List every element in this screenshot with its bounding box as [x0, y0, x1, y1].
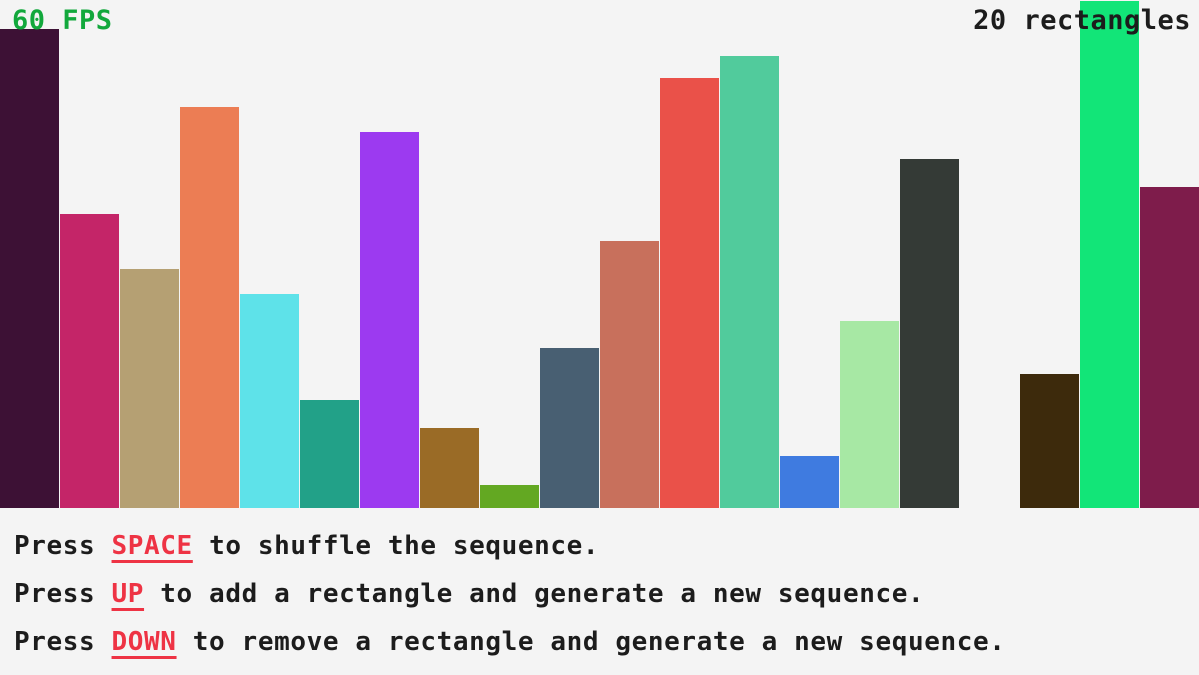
instruction-line-1: Press SPACE to shuffle the sequence.: [14, 522, 1199, 570]
instruction-line-2: Press UP to add a rectangle and generate…: [14, 570, 1199, 618]
bar-12-red: [660, 78, 719, 508]
bar-8-brown: [420, 428, 479, 508]
bar-4-orange: [180, 107, 239, 508]
instruction-suffix: to add a rectangle and generate a new se…: [144, 579, 924, 609]
bar-16-charcoal: [900, 159, 959, 508]
bar-5-cyan: [240, 294, 299, 508]
instruction-suffix: to shuffle the sequence.: [193, 531, 599, 561]
instruction-prefix: Press: [14, 627, 112, 657]
bar-15-light-green: [840, 321, 899, 508]
bar-2-magenta: [60, 214, 119, 508]
key-space[interactable]: SPACE: [112, 531, 193, 561]
instructions-panel: Press SPACE to shuffle the sequence.Pres…: [0, 508, 1199, 675]
rectangle-count-label: 20 rectangles: [973, 7, 1191, 34]
instruction-line-3: Press DOWN to remove a rectangle and gen…: [14, 618, 1199, 666]
bar-9-olive-green: [480, 485, 539, 508]
bar-18-bright-green: [1080, 1, 1139, 508]
bar-1-dark-plum: [0, 29, 59, 508]
key-down[interactable]: DOWN: [112, 627, 177, 657]
instruction-prefix: Press: [14, 579, 112, 609]
fps-counter: 60 FPS: [12, 7, 113, 34]
bar-14-blue: [780, 456, 839, 508]
rectangle-canvas[interactable]: [0, 0, 1199, 508]
instruction-suffix: to remove a rectangle and generate a new…: [177, 627, 1006, 657]
bar-6-teal: [300, 400, 359, 508]
bar-13-mint-green: [720, 56, 779, 508]
bar-10-slate-blue: [540, 348, 599, 508]
bar-19-dark-magenta: [1140, 187, 1199, 508]
key-up[interactable]: UP: [112, 579, 145, 609]
bar-3-tan: [120, 269, 179, 508]
bar-11-terracotta: [600, 241, 659, 508]
app-root: 60 FPS 20 rectangles Press SPACE to shuf…: [0, 0, 1199, 675]
bar-7-purple: [360, 132, 419, 508]
instruction-prefix: Press: [14, 531, 112, 561]
bar-17-dark-brown: [1020, 374, 1079, 508]
